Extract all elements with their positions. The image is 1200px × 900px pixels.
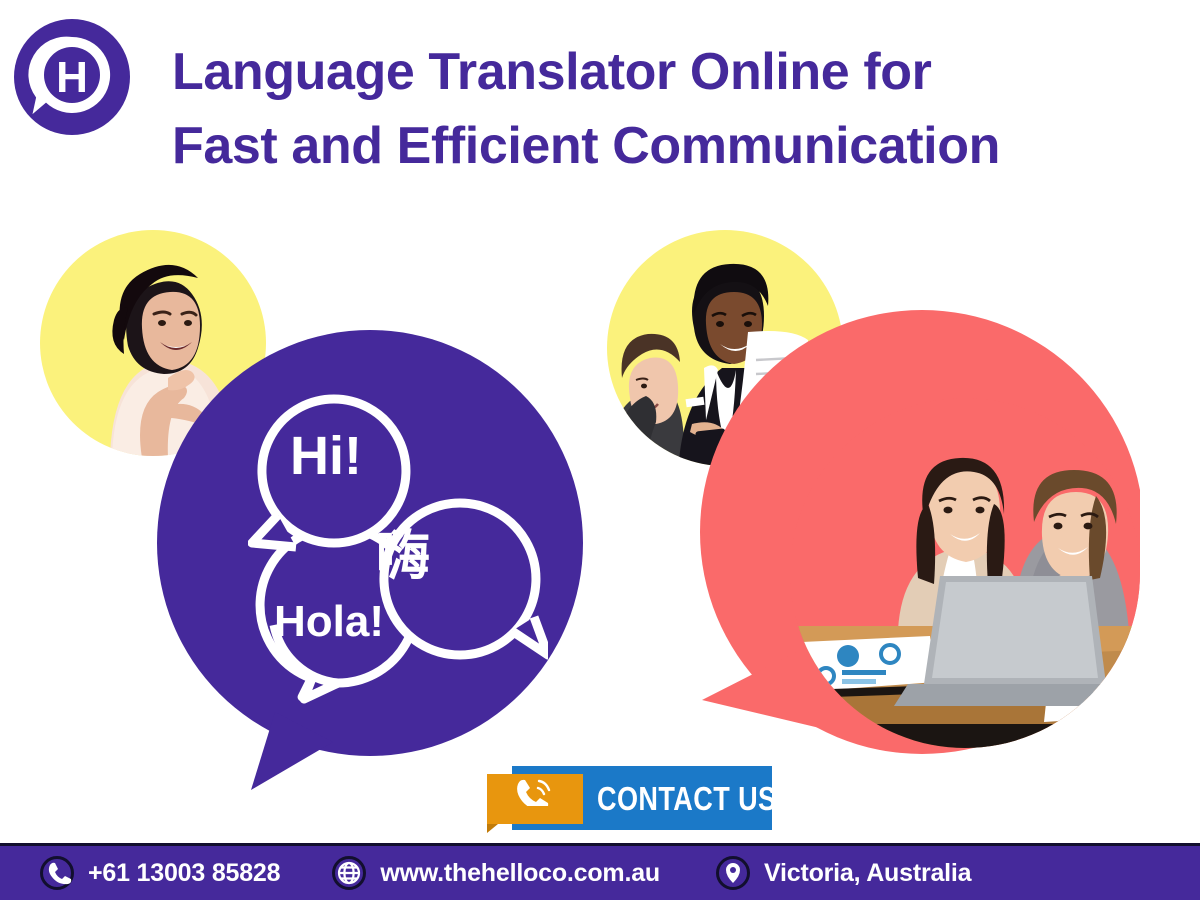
contact-us-button[interactable]: CONTACT US xyxy=(487,766,772,830)
chat-bubble-text-zh: 嗨 xyxy=(376,511,430,590)
brand-logo[interactable]: H xyxy=(12,17,132,137)
cta-label: CONTACT US xyxy=(597,780,776,818)
chat-bubble-text-es: Hola! xyxy=(274,597,384,647)
globe-icon xyxy=(332,856,366,890)
chat-bubble-text-en: Hi! xyxy=(290,425,362,487)
marketing-banner: H Language Translator Online for Fast an… xyxy=(0,0,1200,900)
footer-phone-text: +61 13003 85828 xyxy=(88,859,280,888)
speech-bubble-h-logo-icon: H xyxy=(12,17,132,137)
footer-phone[interactable]: +61 13003 85828 xyxy=(40,856,280,890)
contact-footer: +61 13003 85828 www.thehelloco.com.au Vi… xyxy=(0,843,1200,900)
laptop-scene-circle xyxy=(790,398,1140,748)
multilingual-chat-bubbles: Hi! 嗨 Hola! xyxy=(248,385,548,715)
women-laptop-photo xyxy=(790,398,1140,748)
page-title: Language Translator Online for Fast and … xyxy=(172,36,1172,184)
phone-call-icon xyxy=(514,778,554,806)
footer-location-text: Victoria, Australia xyxy=(764,859,971,888)
svg-text:H: H xyxy=(56,53,88,102)
location-icon xyxy=(716,856,750,890)
footer-website-text: www.thehelloco.com.au xyxy=(380,859,660,888)
footer-website[interactable]: www.thehelloco.com.au xyxy=(332,856,660,890)
phone-icon xyxy=(40,856,74,890)
footer-location[interactable]: Victoria, Australia xyxy=(716,856,971,890)
cta-fold-corner xyxy=(487,824,498,833)
